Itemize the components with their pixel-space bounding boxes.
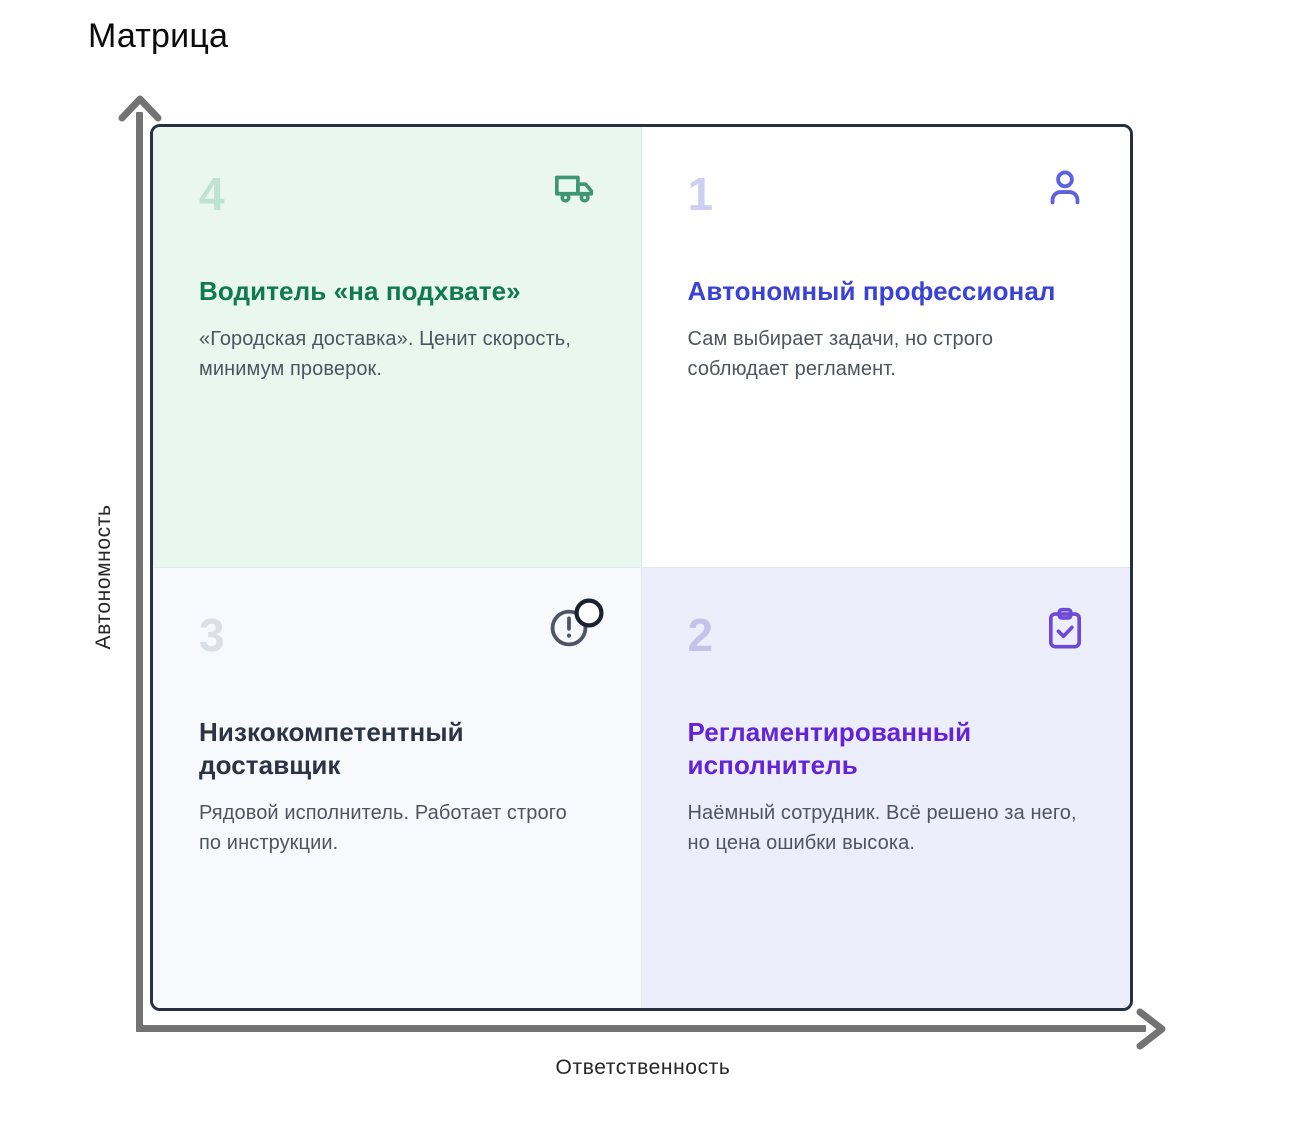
quadrant-description: Наёмный сотрудник. Всё решено за него, н… <box>688 798 1085 858</box>
quadrant-number: 2 <box>688 612 1085 658</box>
quadrant-top-right[interactable]: 1 Автономный профессионал Сам выбирает з… <box>642 127 1131 568</box>
alert-circle-icon <box>547 598 605 650</box>
user-icon <box>1042 165 1088 211</box>
quadrant-description: Рядовой исполнитель. Работает строго по … <box>199 798 595 858</box>
quadrant-bottom-left[interactable]: 3 Низкокомпетентный доставщик Рядовой ис… <box>153 568 642 1009</box>
x-axis-label: Ответственность <box>143 1056 1143 1080</box>
truck-icon <box>553 165 599 211</box>
y-axis-label: Автономность <box>92 447 116 707</box>
x-axis-line <box>136 1025 1146 1032</box>
quadrant-title: Автономный профессионал <box>688 275 1085 308</box>
page-title: Матрица <box>88 16 228 57</box>
quadrant-title: Регламентированный исполнитель <box>688 716 1085 783</box>
quadrant-description: Сам выбирает задачи, но строго соблюдает… <box>688 324 1085 384</box>
quadrant-title: Низкокомпетентный доставщик <box>199 716 595 783</box>
quadrant-number: 4 <box>199 171 595 217</box>
quadrant-bottom-right[interactable]: 2 Регламентированный исполнитель Наёмный… <box>642 568 1131 1009</box>
quadrant-top-left[interactable]: 4 Водитель «на подхвате» «Городская дост… <box>153 127 642 568</box>
y-axis-line <box>136 112 143 1032</box>
quadrant-number: 1 <box>688 171 1085 217</box>
quadrant-number: 3 <box>199 612 595 658</box>
clipboard-check-icon <box>1042 606 1088 652</box>
quadrant-title: Водитель «на подхвате» <box>199 275 595 308</box>
matrix-grid: 4 Водитель «на подхвате» «Городская дост… <box>150 124 1133 1011</box>
quadrant-description: «Городская доставка». Ценит скорость, ми… <box>199 324 595 384</box>
arrow-right-icon <box>1128 1006 1174 1052</box>
